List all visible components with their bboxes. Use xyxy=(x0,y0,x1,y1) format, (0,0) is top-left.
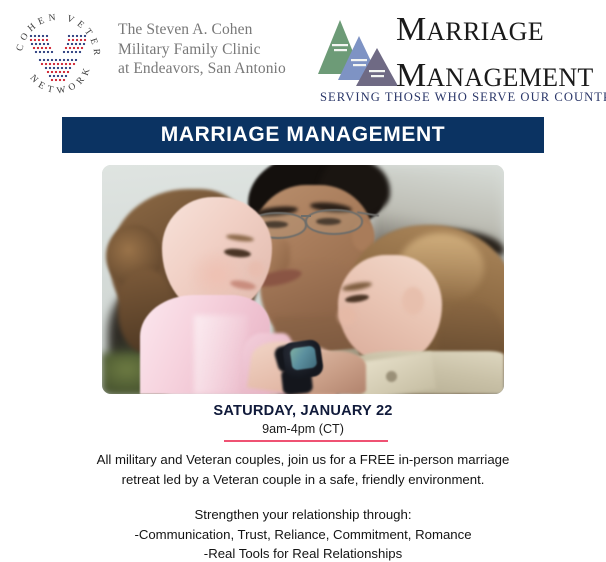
three-mountains-icon xyxy=(318,14,398,90)
girl-nose xyxy=(248,261,264,277)
clinic-name-line-1: The Steven A. Cohen xyxy=(118,20,308,40)
logo-tagline: SERVING THOSE WHO SERVE OUR COUNTRY xyxy=(320,90,606,105)
soldier-embracing-family-photo xyxy=(102,165,504,394)
description-line-1: All military and Veteran couples, join u… xyxy=(93,450,513,470)
girl-shirt-highlight xyxy=(194,315,248,394)
benefits-line-3: -Real Tools for Real Relationships xyxy=(93,544,513,562)
marriage-management-flyer: COHEN VETERANS NETWORK xyxy=(0,0,606,562)
eyeglasses-bridge xyxy=(301,215,311,217)
event-date: SATURDAY, JANUARY 22 xyxy=(0,403,606,419)
clinic-name-line-2: Military Family Clinic xyxy=(118,40,308,60)
wordmark-m1: M xyxy=(396,11,426,48)
pink-divider xyxy=(224,440,388,442)
woman-nose xyxy=(338,307,356,325)
event-time: 9am-4pm (CT) xyxy=(0,422,606,436)
eyeglasses-right-lens xyxy=(305,209,363,235)
wordmark-arriage: ARRIAGE xyxy=(426,17,544,46)
benefits-line-1: Strengthen your relationship through: xyxy=(93,505,513,525)
flyer-header: COHEN VETERANS NETWORK xyxy=(0,0,606,112)
title-banner: MARRIAGE MANAGEMENT xyxy=(62,117,544,153)
benefits-paragraph: Strengthen your relationship through: -C… xyxy=(93,505,513,562)
marriage-management-wordmark: MARRIAGE MANAGEMENT xyxy=(396,10,602,102)
description-line-2: retreat led by a Veteran couple in a saf… xyxy=(93,470,513,490)
marriage-management-logo: MARRIAGE MANAGEMENT SERVING THOSE WHO SE… xyxy=(318,8,600,108)
wristwatch-face xyxy=(290,345,318,370)
benefits-line-2: -Communication, Trust, Reliance, Commitm… xyxy=(93,525,513,545)
wordmark-line-marriage: MARRIAGE xyxy=(396,10,602,56)
cohen-veterans-network-seal-icon: COHEN VETERANS NETWORK xyxy=(8,6,108,106)
wordmark-m2: M xyxy=(396,57,426,94)
description-paragraph: All military and Veteran couples, join u… xyxy=(93,450,513,490)
clinic-name-line-3: at Endeavors, San Antonio xyxy=(118,59,308,79)
banner-title: MARRIAGE MANAGEMENT xyxy=(161,123,445,147)
woman-uniform-button xyxy=(386,371,397,382)
woman-ear xyxy=(402,287,424,315)
svg-text:COHEN VETERANS: COHEN VETERANS xyxy=(8,6,101,60)
wordmark-anagement: ANAGEMENT xyxy=(426,63,593,92)
clinic-name: The Steven A. Cohen Military Family Clin… xyxy=(118,20,308,79)
